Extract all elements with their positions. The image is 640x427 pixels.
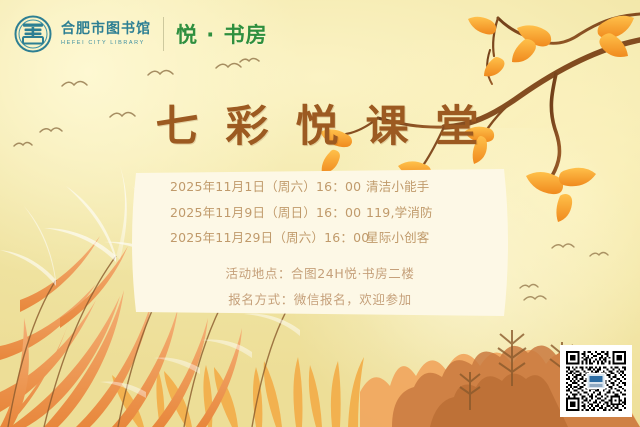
brand-name: 悦 · 书房 [176, 19, 268, 49]
poster-canvas: 合肥市图书馆 HEFEI CITY LIBRARY 悦 · 书房 七 彩 悦 课… [0, 0, 640, 427]
wechat-official-account-logo [587, 373, 606, 389]
schedule-what: 清洁小能手 [366, 181, 470, 194]
schedule-what: 星际小创客 [366, 232, 470, 245]
qr-code[interactable] [560, 345, 632, 417]
table-row: 2025年11月29日（周六）16：00 星际小创客 [170, 232, 470, 245]
schedule-when: 2025年11月1日（周六）16：00 [170, 181, 366, 194]
header: 合肥市图书馆 HEFEI CITY LIBRARY 悦 · 书房 [14, 12, 268, 56]
schedule-what: 119,学消防 [366, 207, 470, 220]
page-title: 七 彩 悦 课 堂 [0, 92, 640, 154]
header-divider [163, 17, 164, 51]
table-row: 2025年11月9日（周日）16：00 119,学消防 [170, 207, 470, 220]
schedule-when: 2025年11月29日（周六）16：00 [170, 232, 366, 245]
location-note: 活动地点：合图24H悦·书房二楼 [226, 264, 415, 285]
table-row: 2025年11月1日（周六）16：00 清洁小能手 [170, 181, 470, 194]
library-name-en: HEFEI CITY LIBRARY [61, 40, 151, 46]
library-emblem-icon [14, 15, 52, 53]
library-name-cn: 合肥市图书馆 [61, 22, 151, 37]
schedule-when: 2025年11月9日（周日）16：00 [170, 207, 366, 220]
schedule-card: 2025年11月1日（周六）16：00 清洁小能手 2025年11月9日（周日）… [128, 167, 512, 318]
signup-note: 报名方式：微信报名，欢迎参加 [228, 290, 411, 311]
